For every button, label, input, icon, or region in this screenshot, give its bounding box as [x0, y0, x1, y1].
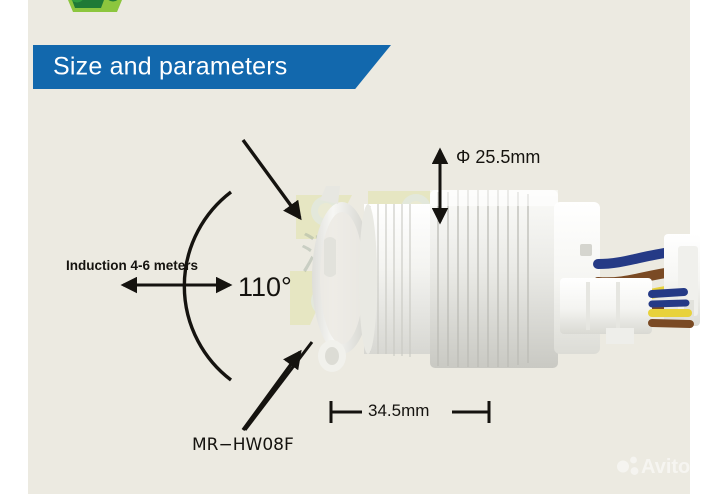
model-leader-line [245, 342, 312, 430]
annotation-overlay [0, 0, 720, 494]
induction-range-label: Induction 4-6 meters [66, 258, 198, 273]
length-label: 34.5mm [368, 401, 429, 421]
model-number-label: MR−HW08F [192, 435, 294, 455]
detection-angle-label: 110° [238, 272, 292, 303]
product-spec-image: Size and parameters 汉正能 [0, 0, 720, 494]
diameter-label: Φ 25.5mm [456, 147, 540, 168]
